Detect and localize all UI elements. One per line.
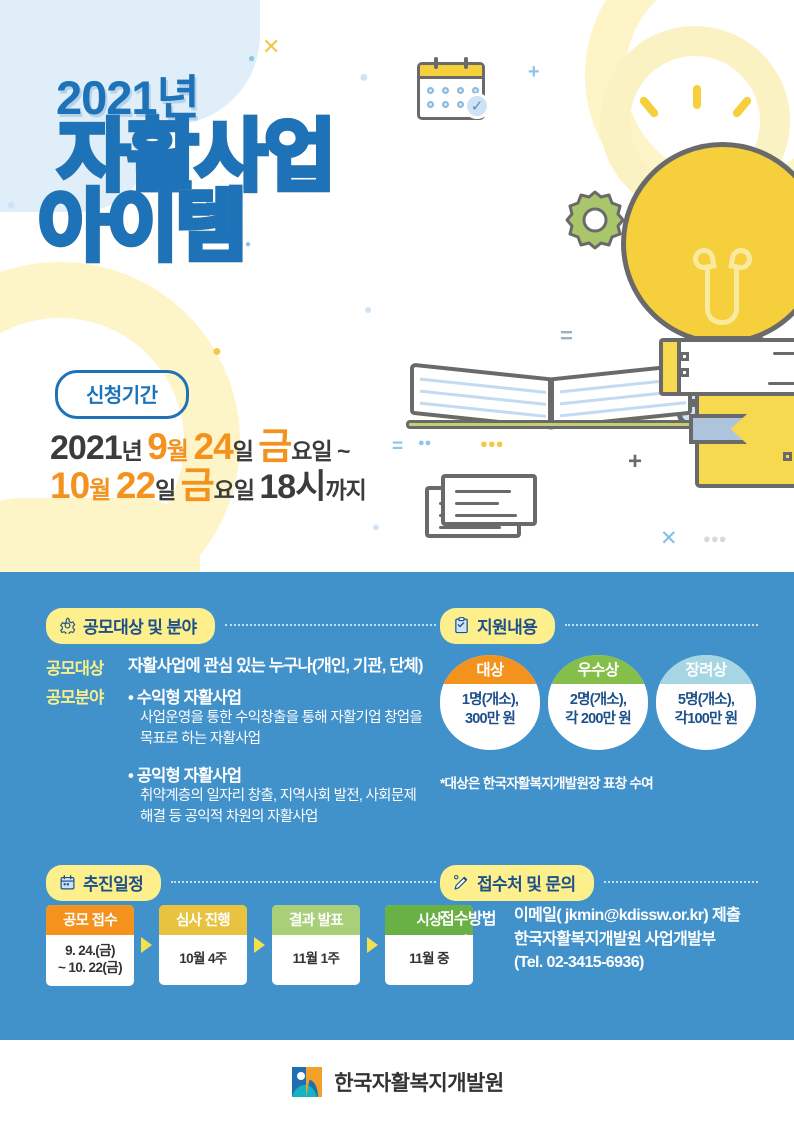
field-desc: 사업운영을 통한 수익창출을 통해 자활기업 창업을 목표로 하는 자활사업 [140, 708, 422, 750]
contact-section-label: 접수처 및 문의 [477, 870, 576, 895]
period-end-month-unit: 월 [89, 477, 116, 504]
pencil-icon [453, 874, 470, 891]
arrow-right-icon [254, 937, 265, 953]
dot-icon: ● [6, 196, 16, 213]
book-spine [406, 420, 696, 429]
period-line-2: 10월 22일 금요일 18시까지 [50, 455, 366, 509]
period-end-weekday-suffix: 요일 [214, 477, 260, 503]
doc-line [773, 352, 794, 355]
award-card: 대상 1명(개소), 300만 원 [440, 655, 540, 750]
award-card: 우수상 2명(개소), 각 200만 원 [548, 655, 648, 750]
schedule-step: 공모 접수 9. 24.(금) ~ 10. 22(금) [46, 905, 134, 986]
field-row-label: 공모분야 [46, 684, 128, 828]
contact-row-label: 문의 [440, 929, 514, 974]
schedule-section-header: 추진일정 [46, 865, 436, 901]
decor-blob-bottom-left [0, 498, 200, 572]
contact-section-pill: 접수처 및 문의 [440, 865, 594, 901]
hero-illustration: ✓ [400, 40, 794, 560]
dot-icon: ● [364, 302, 372, 316]
period-badge: 신청기간 [55, 370, 189, 419]
support-section-label: 지원내용 [477, 613, 537, 638]
folder-tab [659, 338, 681, 396]
dot-icon: ● [248, 52, 255, 64]
header-dotted-rule [171, 881, 436, 883]
award-name: 대상 [440, 655, 540, 684]
target-section-label: 공모대상 및 분야 [83, 613, 197, 638]
period-end-suffix: 까지 [326, 477, 366, 503]
calendar-dot [427, 87, 434, 94]
award-detail: 5명(개소), 각100만 원 [656, 684, 756, 729]
doc-square [680, 352, 689, 361]
kdissw-logo-icon [290, 1065, 324, 1099]
contact-row: 접수방법 이메일( jkmin@kdissw.or.kr) 제출 [440, 905, 740, 929]
footer: 한국자활복지개발원 [0, 1040, 794, 1123]
award-card: 장려상 5명(개소), 각100만 원 [656, 655, 756, 750]
step-body: 10월 4주 [159, 935, 247, 985]
award-note: *대상은 한국자활복지개발원장 표창 수여 [440, 772, 760, 792]
calendar-ring [434, 57, 438, 69]
calendar-icon [59, 874, 76, 891]
period-end-month: 10 [50, 465, 89, 506]
field-row: 공모분야 • 수익형 자활사업 사업운영을 통한 수익창출을 통해 자활기업 창… [46, 684, 436, 828]
calendar-dot [442, 101, 449, 108]
cross-mark-icon: ✕ [262, 36, 280, 58]
calendar-icon: ✓ [417, 62, 485, 120]
schedule-step: 결과 발표 11월 1주 [272, 905, 360, 985]
bulb-filament-icon [705, 265, 739, 325]
dot-icon: ● [212, 344, 222, 360]
paper-stack-icon [425, 470, 540, 540]
schedule-section-pill: 추진일정 [46, 865, 161, 901]
calendar-dot [457, 87, 464, 94]
arrow-right-icon [141, 937, 152, 953]
target-row: 공모대상 자활사업에 관심 있는 누구나(개인, 기관, 단체) [46, 655, 436, 679]
step-title: 심사 진행 [159, 905, 247, 935]
calendar-dot [457, 101, 464, 108]
step-title: 결과 발표 [272, 905, 360, 935]
field-desc: 취약계층의 일자리 창출, 지역사회 발전, 사회문제 해결 등 공익적 차원의… [140, 786, 422, 828]
period-end-weekday: 금 [181, 465, 214, 506]
document-sheet-icon [664, 338, 794, 396]
folder-square [783, 452, 792, 461]
target-row-label: 공모대상 [46, 655, 128, 679]
dot-icon: ● [359, 70, 369, 86]
period-end-day: 22 [116, 465, 155, 506]
period-end-day-unit: 일 [155, 477, 181, 503]
schedule-steps: 공모 접수 9. 24.(금) ~ 10. 22(금) 심사 진행 10월 4주… [46, 905, 473, 986]
target-section-pill: 공모대상 및 분야 [46, 608, 215, 644]
calendar-dot [427, 101, 434, 108]
header-dotted-rule [225, 624, 436, 626]
book-line [420, 402, 546, 418]
step-body: 11월 1주 [272, 935, 360, 985]
paper-line [439, 526, 501, 529]
contact-row: 문의 한국자활복지개발원 사업개발부 (Tel. 02-3415-6936) [440, 929, 740, 974]
check-circle-icon: ✓ [464, 93, 490, 119]
target-section-body: 공모대상 자활사업에 관심 있는 누구나(개인, 기관, 단체) 공모분야 • … [46, 655, 436, 830]
target-row-value: 자활사업에 관심 있는 누구나(개인, 기관, 단체) [128, 655, 423, 679]
contact-section-body: 접수방법 이메일( jkmin@kdissw.or.kr) 제출 문의 한국자활… [440, 905, 740, 974]
paper-line [455, 502, 499, 505]
schedule-section-label: 추진일정 [83, 870, 143, 895]
field-bullet: • 공익형 자활사업 [128, 762, 241, 786]
hero-section: ✕ + ● ● ● ● ● ● = = ✕ + ✕ ●●● ●● ●●● ● 2… [0, 0, 794, 572]
paper-sheet [441, 474, 537, 526]
header-dotted-rule [604, 881, 759, 883]
book-line [560, 401, 686, 417]
calendar-header [420, 65, 482, 79]
open-book-icon [410, 370, 690, 432]
contact-section-header: 접수처 및 문의 [440, 865, 758, 901]
gear-icon [565, 190, 625, 250]
document-folder-icon [695, 392, 794, 488]
support-section-header: 지원내용 [440, 608, 758, 644]
title-word: 아이템 [38, 188, 244, 264]
contact-row-value: 한국자활복지개발원 사업개발부 (Tel. 02-3415-6936) [514, 929, 716, 974]
step-title: 공모 접수 [46, 905, 134, 935]
target-section-header: 공모대상 및 분야 [46, 608, 436, 644]
schedule-step: 심사 진행 10월 4주 [159, 905, 247, 985]
award-name: 장려상 [656, 655, 756, 684]
gear-icon [59, 617, 76, 634]
ribbon-icon [689, 414, 747, 444]
dot-icon: ● [372, 520, 380, 533]
header-dotted-rule [565, 624, 758, 626]
support-section-body: 대상 1명(개소), 300만 원 우수상 2명(개소), 각 200만 원 장… [440, 655, 760, 792]
award-detail: 1명(개소), 300만 원 [440, 684, 540, 729]
light-ray-icon [693, 85, 701, 109]
paper-line [455, 490, 511, 493]
support-section-pill: 지원내용 [440, 608, 555, 644]
award-detail: 2명(개소), 각 200만 원 [548, 684, 648, 729]
calendar-dot [442, 87, 449, 94]
doc-square [680, 368, 689, 377]
arrow-right-icon [367, 937, 378, 953]
org-name: 한국자활복지개발원 [334, 1067, 503, 1097]
period-end-time: 18시 [259, 468, 325, 506]
contact-row-label: 접수방법 [440, 905, 514, 929]
award-name: 우수상 [548, 655, 648, 684]
step-body: 9. 24.(금) ~ 10. 22(금) [46, 935, 134, 986]
clipboard-icon [453, 617, 470, 634]
calendar-ring [464, 57, 468, 69]
contact-row-value: 이메일( jkmin@kdissw.or.kr) 제출 [514, 905, 740, 929]
paper-line [455, 514, 517, 517]
award-list: 대상 1명(개소), 300만 원 우수상 2명(개소), 각 200만 원 장… [440, 655, 760, 750]
doc-line [768, 382, 794, 385]
schedule-section-body: 공모 접수 9. 24.(금) ~ 10. 22(금) 심사 진행 10월 4주… [46, 905, 473, 986]
field-bullet: • 수익형 자활사업 [128, 689, 241, 707]
